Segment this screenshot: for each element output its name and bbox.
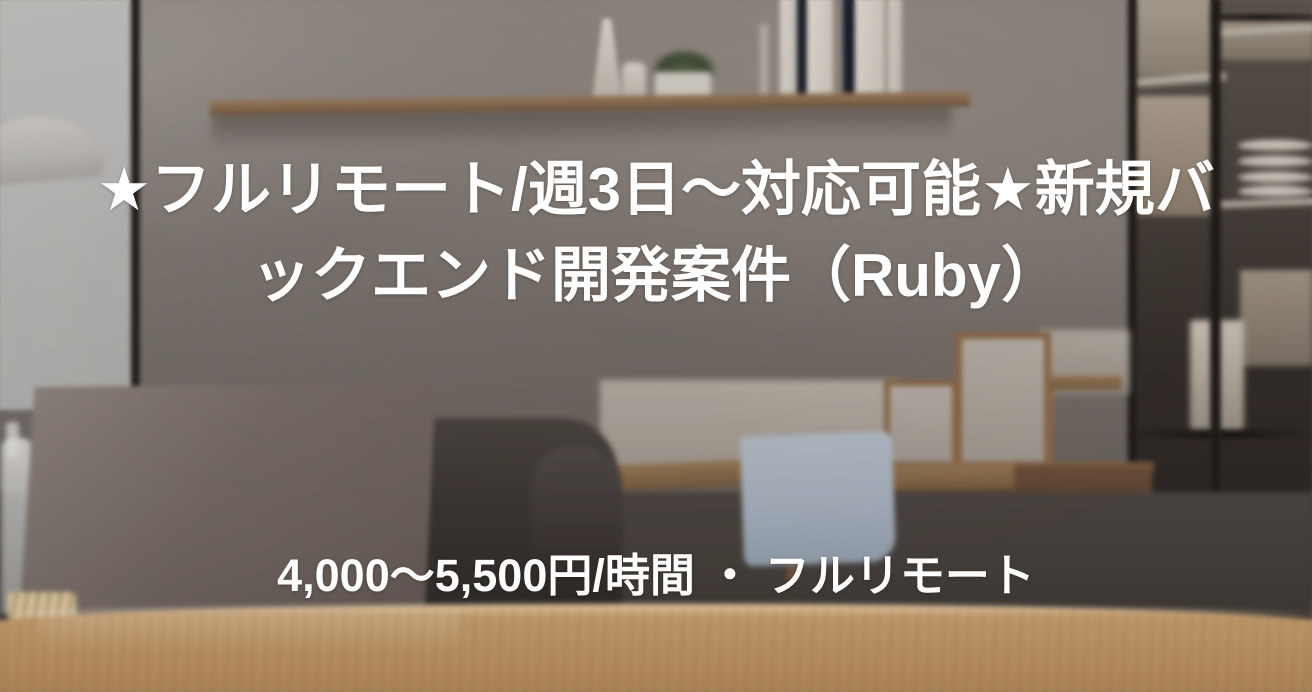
job-posting-banner: ★フルリモート/週3日〜対応可能★新規バックエンド開発案件（Ruby） 4,00… xyxy=(0,0,1312,692)
subtitle: 4,000〜5,500円/時間 ・ フルリモート xyxy=(0,551,1312,601)
text-overlay: ★フルリモート/週3日〜対応可能★新規バックエンド開発案件（Ruby） 4,00… xyxy=(0,0,1312,692)
page-title: ★フルリモート/週3日〜対応可能★新規バックエンド開発案件（Ruby） xyxy=(0,147,1312,319)
